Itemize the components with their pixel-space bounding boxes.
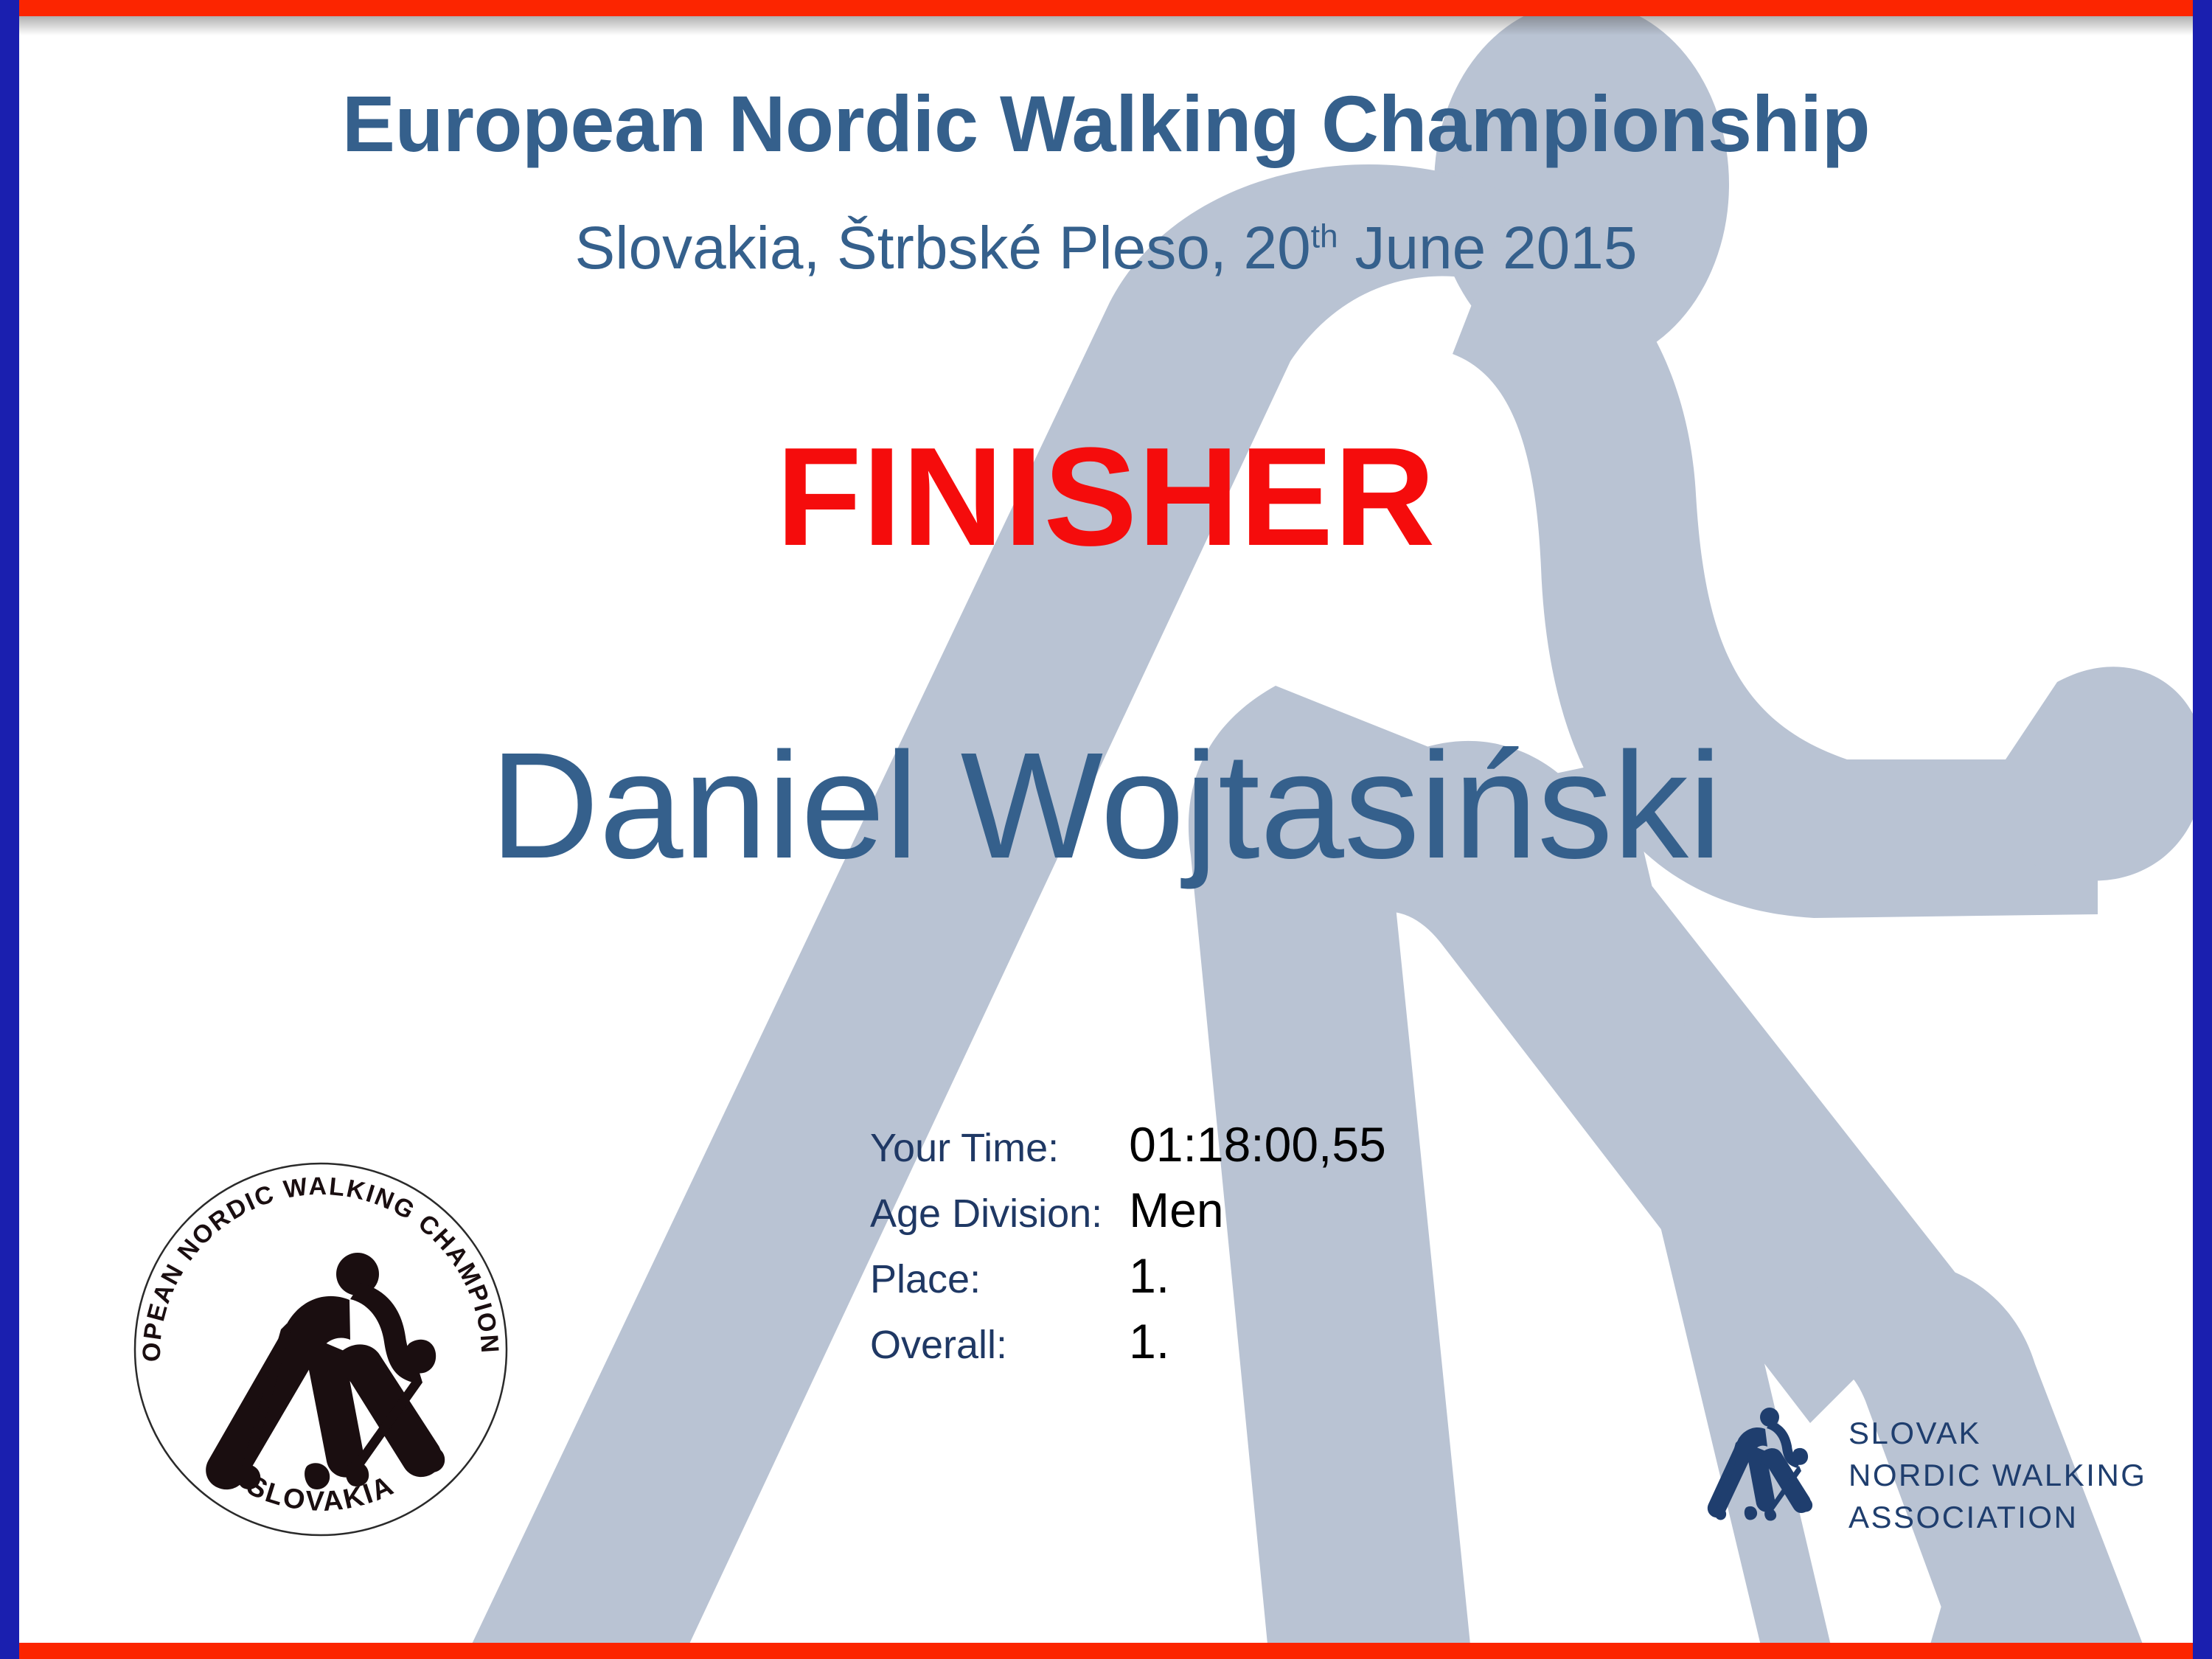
- result-value-your-time: 01:18:00,55: [1129, 1113, 1386, 1179]
- result-label-your-time: Your Time:: [870, 1113, 1129, 1179]
- association-logo: SLOVAK NORDIC WALKING ASSOCIATION: [1703, 1394, 2160, 1556]
- results-table: Your Time: 01:18:00,55 Age Division: Men…: [870, 1113, 1386, 1376]
- table-row: Overall: 1.: [870, 1310, 1386, 1376]
- date-ordinal-suffix: th: [1311, 219, 1338, 255]
- result-label-age-division: Age Division:: [870, 1179, 1129, 1245]
- finisher-certificate: European Nordic Walking Championship Slo…: [0, 0, 2212, 1659]
- certificate-content: European Nordic Walking Championship Slo…: [0, 0, 2212, 1659]
- event-badge-logo: EUROPEAN NORDIC WALKING CHAMPIONSHIP SLO…: [129, 1158, 512, 1541]
- result-label-place: Place:: [870, 1245, 1129, 1310]
- result-value-place: 1.: [1129, 1245, 1386, 1310]
- assoc-line-2: NORDIC WALKING: [1848, 1454, 2146, 1496]
- result-label-overall: Overall:: [870, 1310, 1129, 1376]
- page-title: European Nordic Walking Championship: [0, 77, 2212, 170]
- subtitle-month-year: June 2015: [1338, 215, 1638, 282]
- border-left-blue: [0, 0, 19, 1659]
- subtitle-place-date: Slovakia, Štrbské Pleso, 20: [575, 215, 1311, 282]
- border-right-blue: [2193, 0, 2212, 1659]
- border-top-red: [0, 0, 2212, 16]
- table-row: Age Division: Men: [870, 1179, 1386, 1245]
- event-subtitle: Slovakia, Štrbské Pleso, 20th June 2015: [0, 214, 2212, 283]
- border-bottom-red: [0, 1643, 2212, 1659]
- association-name: SLOVAK NORDIC WALKING ASSOCIATION: [1848, 1412, 2146, 1538]
- results-block: Your Time: 01:18:00,55 Age Division: Men…: [870, 1113, 1386, 1376]
- assoc-line-1: SLOVAK: [1848, 1412, 2146, 1454]
- result-value-age-division: Men: [1129, 1179, 1386, 1245]
- status-badge: FINISHER: [0, 417, 2212, 577]
- table-row: Place: 1.: [870, 1245, 1386, 1310]
- nordic-walker-icon: [1703, 1401, 1832, 1548]
- table-row: Your Time: 01:18:00,55: [870, 1113, 1386, 1179]
- result-value-overall: 1.: [1129, 1310, 1386, 1376]
- assoc-line-3: ASSOCIATION: [1848, 1496, 2146, 1538]
- athlete-name: Daniel Wojtasiński: [0, 719, 2212, 893]
